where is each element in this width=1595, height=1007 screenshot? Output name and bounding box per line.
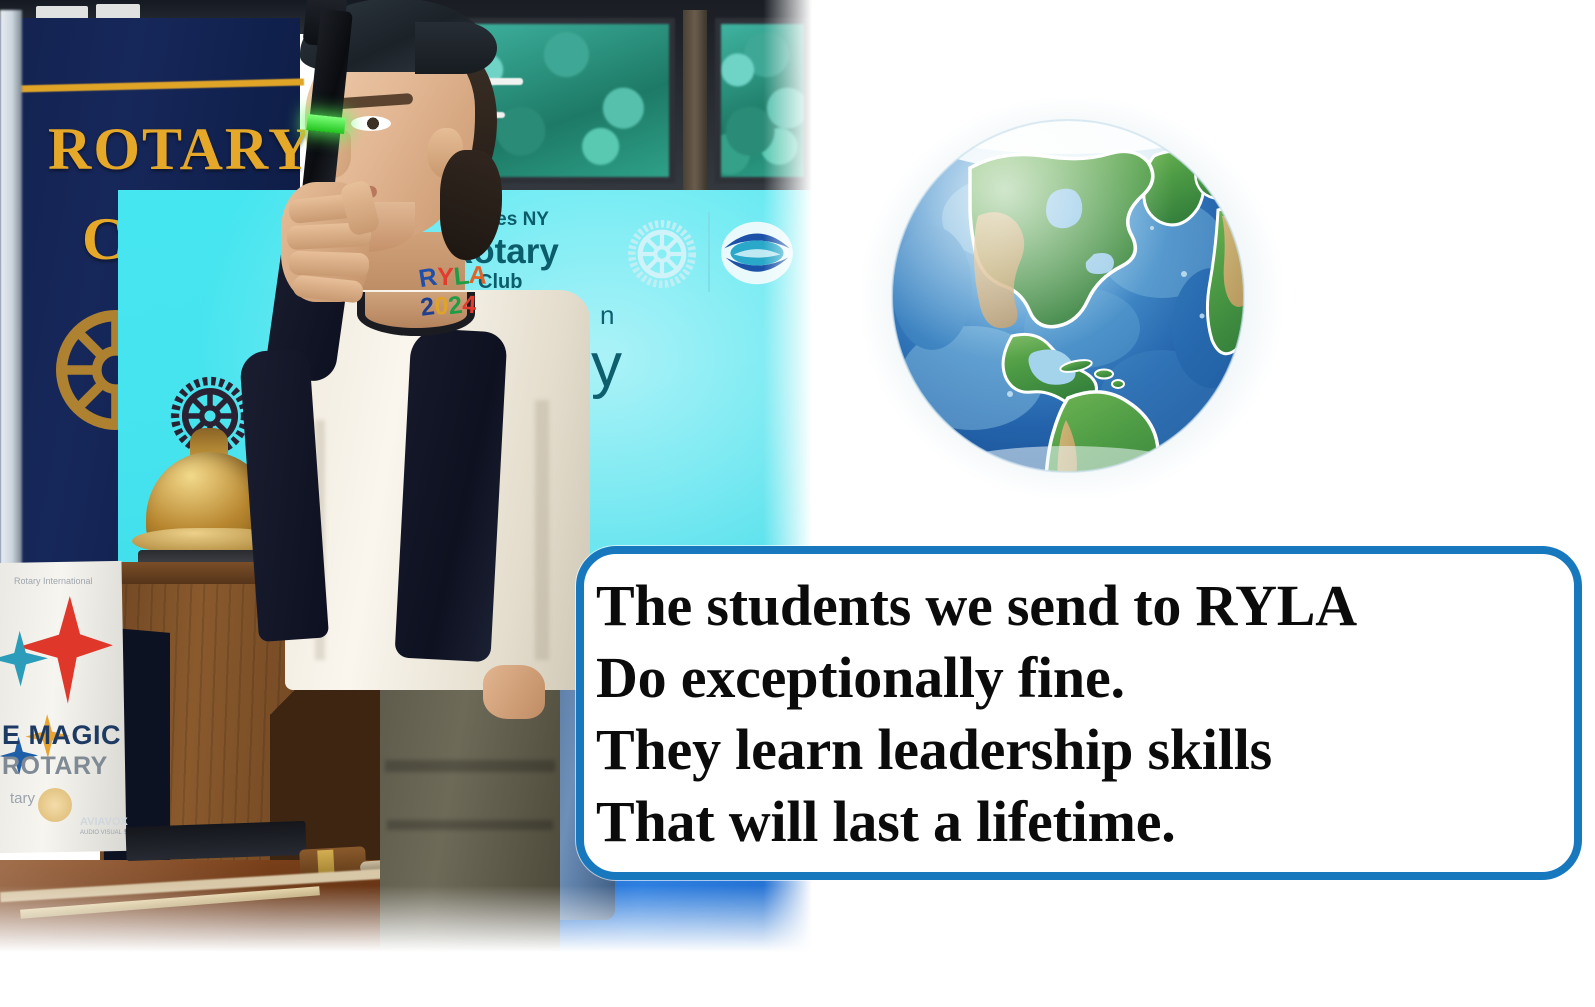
banner-edge-highlight [0,10,22,610]
undershirt-sleeve-left [394,328,507,663]
poem-line-2: Do exceptionally fine. [596,642,1574,714]
rotary-seal-icon [38,788,72,822]
magic-banner-line1: E MAGIC [2,720,121,751]
magic-banner-logo-text: tary [10,790,35,807]
trouser-fold [385,760,555,772]
ryla-2024-logo: RYLA 2024 [418,260,514,335]
earth-globe-illustration [862,98,1282,498]
poem-line-3: They learn leadership skills [596,714,1574,786]
shirt-fold [535,400,549,660]
finger [289,251,370,278]
poem-line-1: The students we send to RYLA [596,570,1574,642]
teal-star-icon [0,628,50,689]
trouser-fold [387,820,553,830]
screen-logo-divider [708,212,710,292]
poem-text-block: The students we send to RYLA Do exceptio… [596,560,1574,868]
rotary-wheel-icon [620,212,704,296]
av-brand-label: AVIAVOX [80,816,128,828]
hair-back [440,150,502,260]
cap-brim [415,22,497,74]
lake-emblem-icon [718,214,796,292]
magic-banner-line2: ROTARY [2,752,108,781]
poem-line-4: That will last a lifetime. [596,786,1574,858]
magic-banner-small-text: Rotary International [14,575,93,589]
slide-canvas: ROTARY C Naples NY Rotary Club [0,0,1595,1007]
window [715,18,810,183]
globe-svg [862,98,1282,498]
eye [351,116,391,131]
window-mullion [683,10,707,190]
hand-in-pocket [483,665,545,719]
ryla-logo-year: 2024 [420,289,513,323]
ryla-student-speaker: RYLA 2024 [205,0,625,952]
